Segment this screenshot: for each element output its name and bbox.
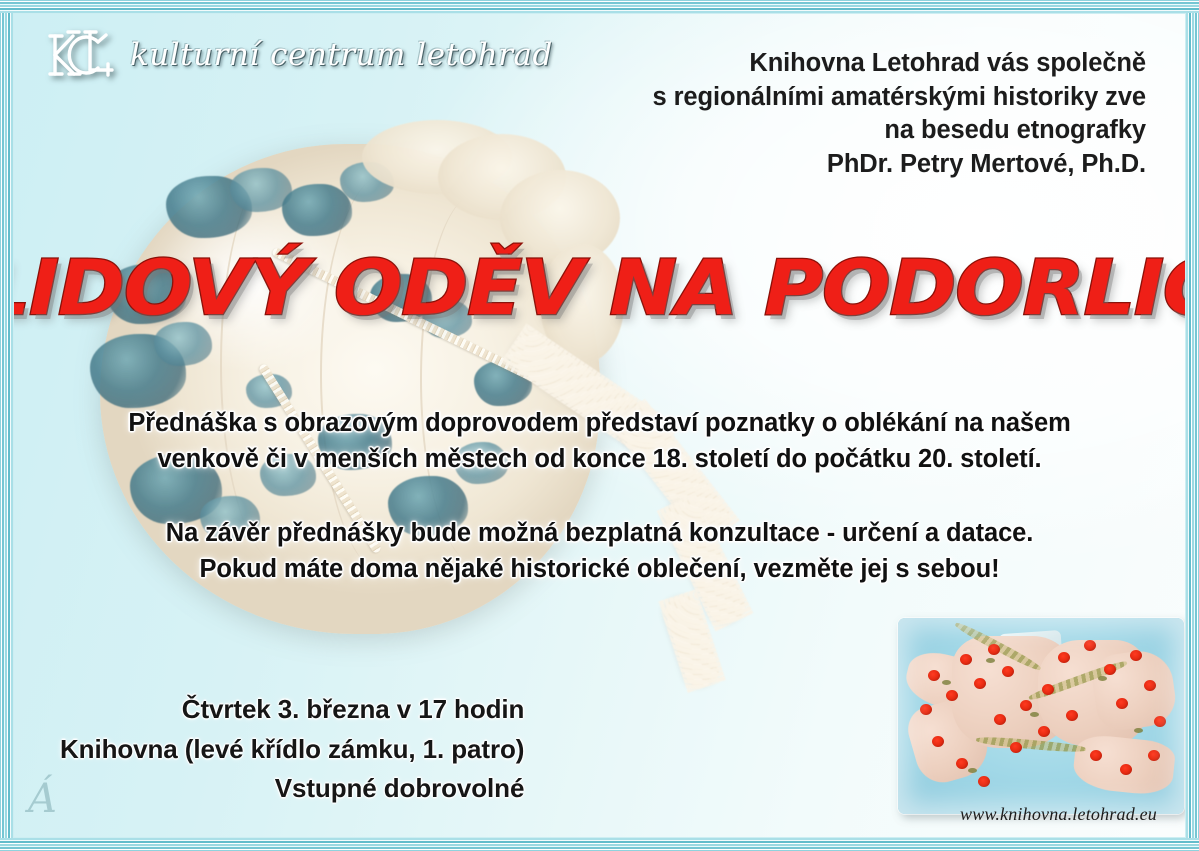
folk-blouse-photo (898, 618, 1184, 814)
kcl-monogram-icon (46, 22, 120, 88)
invitation-line-3: na besedu etnografky (526, 114, 1146, 148)
invitation-text: Knihovna Letohrad vás společně s regioná… (526, 47, 1146, 182)
brand-logo[interactable]: kulturní centrum letohrad (46, 22, 553, 88)
description-line-2: venkově či v menších městech od konce 18… (14, 441, 1185, 477)
embroidery-motif (282, 184, 352, 236)
brand-wordmark: kulturní centrum letohrad (130, 37, 553, 73)
invitation-line-4: PhDr. Petry Mertové, Ph.D. (526, 148, 1146, 182)
invitation-line-1: Knihovna Letohrad vás společně (526, 47, 1146, 81)
background-bonnet-photo (70, 124, 730, 684)
poster-canvas: kulturní centrum letohrad Knihovna Letoh… (14, 14, 1185, 837)
invitation-line-2: s regionálními amatérskými historiky zve (526, 81, 1146, 115)
designer-signature: Á (28, 779, 57, 819)
event-details: Čtvrtek 3. března v 17 hodin Knihovna (l… (60, 690, 524, 809)
event-datetime: Čtvrtek 3. března v 17 hodin (60, 690, 524, 730)
photo-vignette (898, 618, 1184, 814)
event-admission: Vstupné dobrovolné (60, 769, 524, 809)
description-line-1: Přednáška s obrazovým doprovodem předsta… (14, 405, 1185, 441)
description-paragraph-2: Na závěr přednášky bude možná bezplatná … (14, 515, 1185, 587)
website-url[interactable]: www.knihovna.letohrad.eu (960, 804, 1157, 825)
poster: kulturní centrum letohrad Knihovna Letoh… (0, 0, 1199, 851)
description-line-3: Na závěr přednášky bude možná bezplatná … (14, 515, 1185, 551)
description-paragraph-1: Přednáška s obrazovým doprovodem předsta… (14, 405, 1185, 477)
poster-title: LIDOVÝ ODĚV NA PODORLICKU (14, 250, 1185, 326)
event-venue: Knihovna (levé křídlo zámku, 1. patro) (60, 730, 524, 770)
description-line-4: Pokud máte doma nějaké historické obleče… (14, 551, 1185, 587)
